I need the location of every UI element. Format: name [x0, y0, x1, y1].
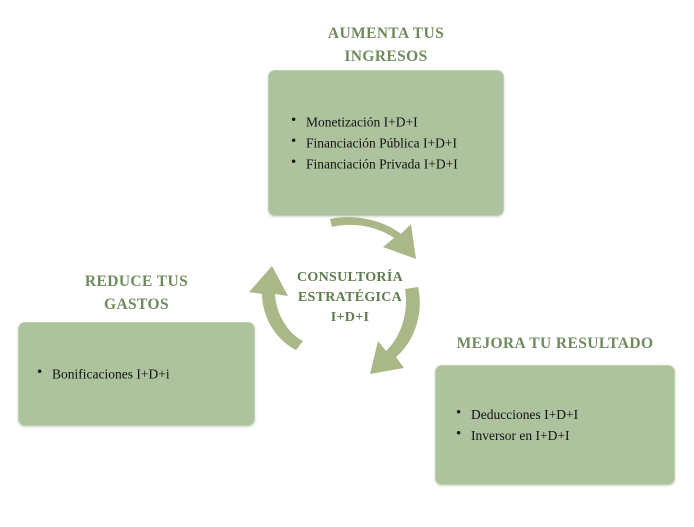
list-item: Deducciones I+D+I: [436, 404, 674, 425]
heading-aumenta-tus-ingresos: AUMENTA TUS INGRESOS: [268, 22, 504, 68]
heading-reduce-tus-gastos: REDUCE TUS GASTOS: [18, 270, 255, 316]
arrow-top-to-right-icon: [330, 217, 416, 259]
heading-mejora-tu-resultado: MEJORA TU RESULTADO: [435, 332, 675, 355]
box-reduce-tus-gastos: Bonificaciones I+D+i: [18, 322, 255, 426]
list-reduce-tus-gastos: Bonificaciones I+D+i: [19, 364, 254, 385]
center-label-consultoria-estrategica: CONSULTORÍA ESTRATÉGICA I+D+I: [286, 268, 414, 328]
list-item: Financiación Privada I+D+I: [269, 154, 503, 175]
box-aumenta-tus-ingresos: Monetización I+D+I Financiación Pública …: [268, 70, 504, 216]
diagram-canvas: AUMENTA TUS INGRESOS Monetización I+D+I …: [0, 0, 694, 527]
list-item: Bonificaciones I+D+i: [19, 364, 254, 385]
box-mejora-tu-resultado: Deducciones I+D+I Inversor en I+D+I: [435, 365, 675, 485]
list-aumenta-tus-ingresos: Monetización I+D+I Financiación Pública …: [269, 112, 503, 175]
list-item: Financiación Pública I+D+I: [269, 133, 503, 154]
list-item: Monetización I+D+I: [269, 112, 503, 133]
list-mejora-tu-resultado: Deducciones I+D+I Inversor en I+D+I: [436, 404, 674, 446]
list-item: Inversor en I+D+I: [436, 425, 674, 446]
